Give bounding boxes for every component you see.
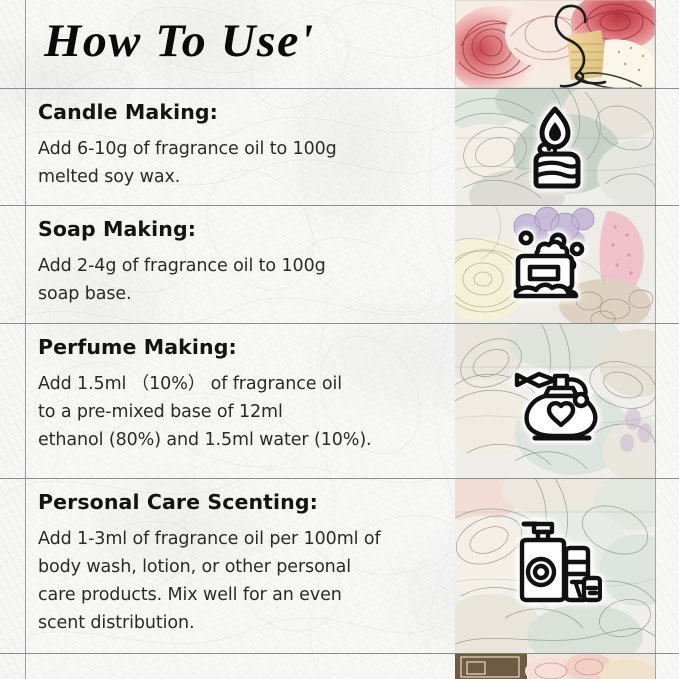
section-heading: Soap Making: (38, 217, 438, 241)
section-body: Add 1.5ml （10%） of fragrance oil to a pr… (38, 370, 438, 454)
body-line: care products. Mix well for an even (38, 581, 438, 609)
section-body: Add 2-4g of fragrance oil to 100g soap b… (38, 252, 438, 308)
bottom-floral-photo (455, 653, 655, 679)
section-body: Add 6-10g of fragrance oil to 100g melte… (38, 135, 438, 191)
body-line: body wash, lotion, or other personal (38, 553, 438, 581)
section-personal-care-scenting: Personal Care Scenting: Add 1-3ml of fra… (38, 490, 438, 637)
right-image-column (455, 0, 655, 679)
section-heading: Perfume Making: (38, 335, 438, 359)
illustration-cell-personal-care (455, 478, 655, 653)
illustration-cell-candle (455, 88, 655, 205)
body-line: Add 1-3ml of fragrance oil per 100ml of (38, 525, 438, 553)
section-perfume-making: Perfume Making: Add 1.5ml （10%） of fragr… (38, 335, 438, 454)
illustration-cell-soap (455, 205, 655, 323)
divider-1 (0, 88, 679, 89)
divider-2 (0, 205, 679, 206)
body-line: scent distribution. (38, 609, 438, 637)
divider-4 (0, 478, 679, 479)
how-to-use-infographic: How To Use' Candle Making: Add 6-10g of … (0, 0, 679, 679)
body-line: ethanol (80%) and 1.5ml water (10%). (38, 426, 438, 454)
section-body: Add 1-3ml of fragrance oil per 100ml of … (38, 525, 438, 637)
section-candle-making: Candle Making: Add 6-10g of fragrance oi… (38, 100, 438, 191)
illustration-cell-perfume (455, 323, 655, 478)
left-vertical-rule (25, 0, 26, 679)
body-line: Add 1.5ml （10%） of fragrance oil (38, 370, 438, 398)
top-floral-photo (455, 0, 655, 88)
right-vertical-rule (655, 0, 656, 679)
section-soap-making: Soap Making: Add 2-4g of fragrance oil t… (38, 217, 438, 308)
page-title: How To Use' (44, 14, 315, 68)
section-heading: Candle Making: (38, 100, 438, 124)
section-heading: Personal Care Scenting: (38, 490, 438, 514)
body-line: soap base. (38, 280, 438, 308)
body-line: to a pre-mixed base of 12ml (38, 398, 438, 426)
divider-3 (0, 323, 679, 324)
body-line: melted soy wax. (38, 163, 438, 191)
right-margin-strip (655, 0, 679, 679)
divider-5 (0, 653, 679, 654)
left-margin-strip (0, 0, 25, 679)
body-line: Add 2-4g of fragrance oil to 100g (38, 252, 438, 280)
body-line: Add 6-10g of fragrance oil to 100g (38, 135, 438, 163)
